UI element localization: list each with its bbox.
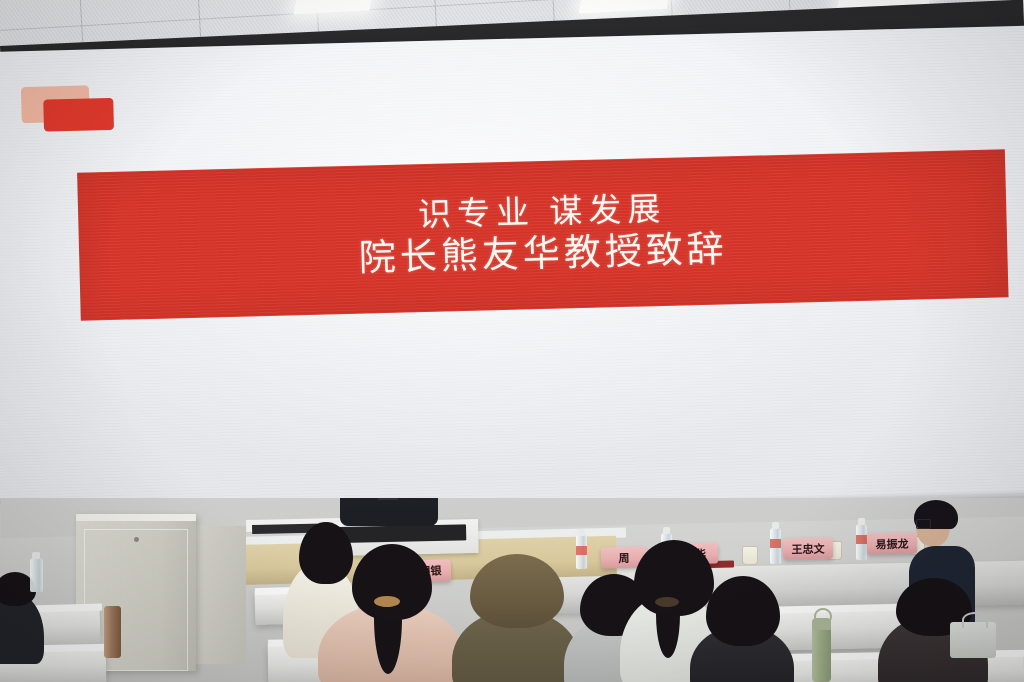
water-bottle-label-3: [770, 539, 781, 548]
wood-pattern-thermos: [104, 606, 121, 658]
slide-headline: 识专业 谋发展: [418, 191, 667, 236]
seated-man-glasses: [916, 519, 931, 529]
hair-tie-2: [655, 597, 679, 607]
cabinet-lock: [134, 537, 139, 542]
green-sports-bottle-loop: [814, 608, 832, 625]
water-bottle-cap-4: [858, 518, 865, 525]
water-bottle-label-4: [856, 535, 867, 544]
hair-tie: [374, 596, 400, 607]
water-bottle-left-cap: [32, 552, 40, 559]
water-bottle-cap-1: [578, 529, 585, 536]
audience-cream-jacket-hair: [299, 522, 353, 584]
speaker-shirt: [378, 498, 398, 500]
slide-subhead: 院长熊友华教授致辞: [358, 228, 728, 281]
room-foreground: 胡银银 周 友华 王忠文 易振龙: [0, 498, 1024, 682]
slide-banner: 识专业 谋发展 院长熊友华教授致辞: [77, 149, 1008, 320]
lecture-hall-photo: 识专业 谋发展 院长熊友华教授致辞: [0, 0, 1024, 682]
water-bottle-cap-3: [772, 522, 779, 529]
placard-wang-zhongwen: 王忠文: [783, 537, 833, 559]
cabinet-side-panel: [194, 526, 246, 664]
green-sports-bottle: [812, 626, 831, 682]
speaker-torso: [340, 498, 438, 526]
logo-front-rectangle: [43, 98, 114, 132]
slide-logo: [21, 84, 142, 143]
water-bottle-left: [30, 558, 43, 592]
handbag-handle: [962, 612, 988, 628]
tea-cup-1: [742, 546, 758, 565]
water-bottle-cap-2: [663, 527, 670, 534]
lectern-monitor: [338, 524, 466, 543]
water-bottle-label-1: [576, 546, 587, 555]
placard-yi-zhenlong: 易振龙: [867, 532, 917, 554]
projection-screen: 识专业 谋发展 院长熊友华教授致辞: [0, 25, 1024, 531]
